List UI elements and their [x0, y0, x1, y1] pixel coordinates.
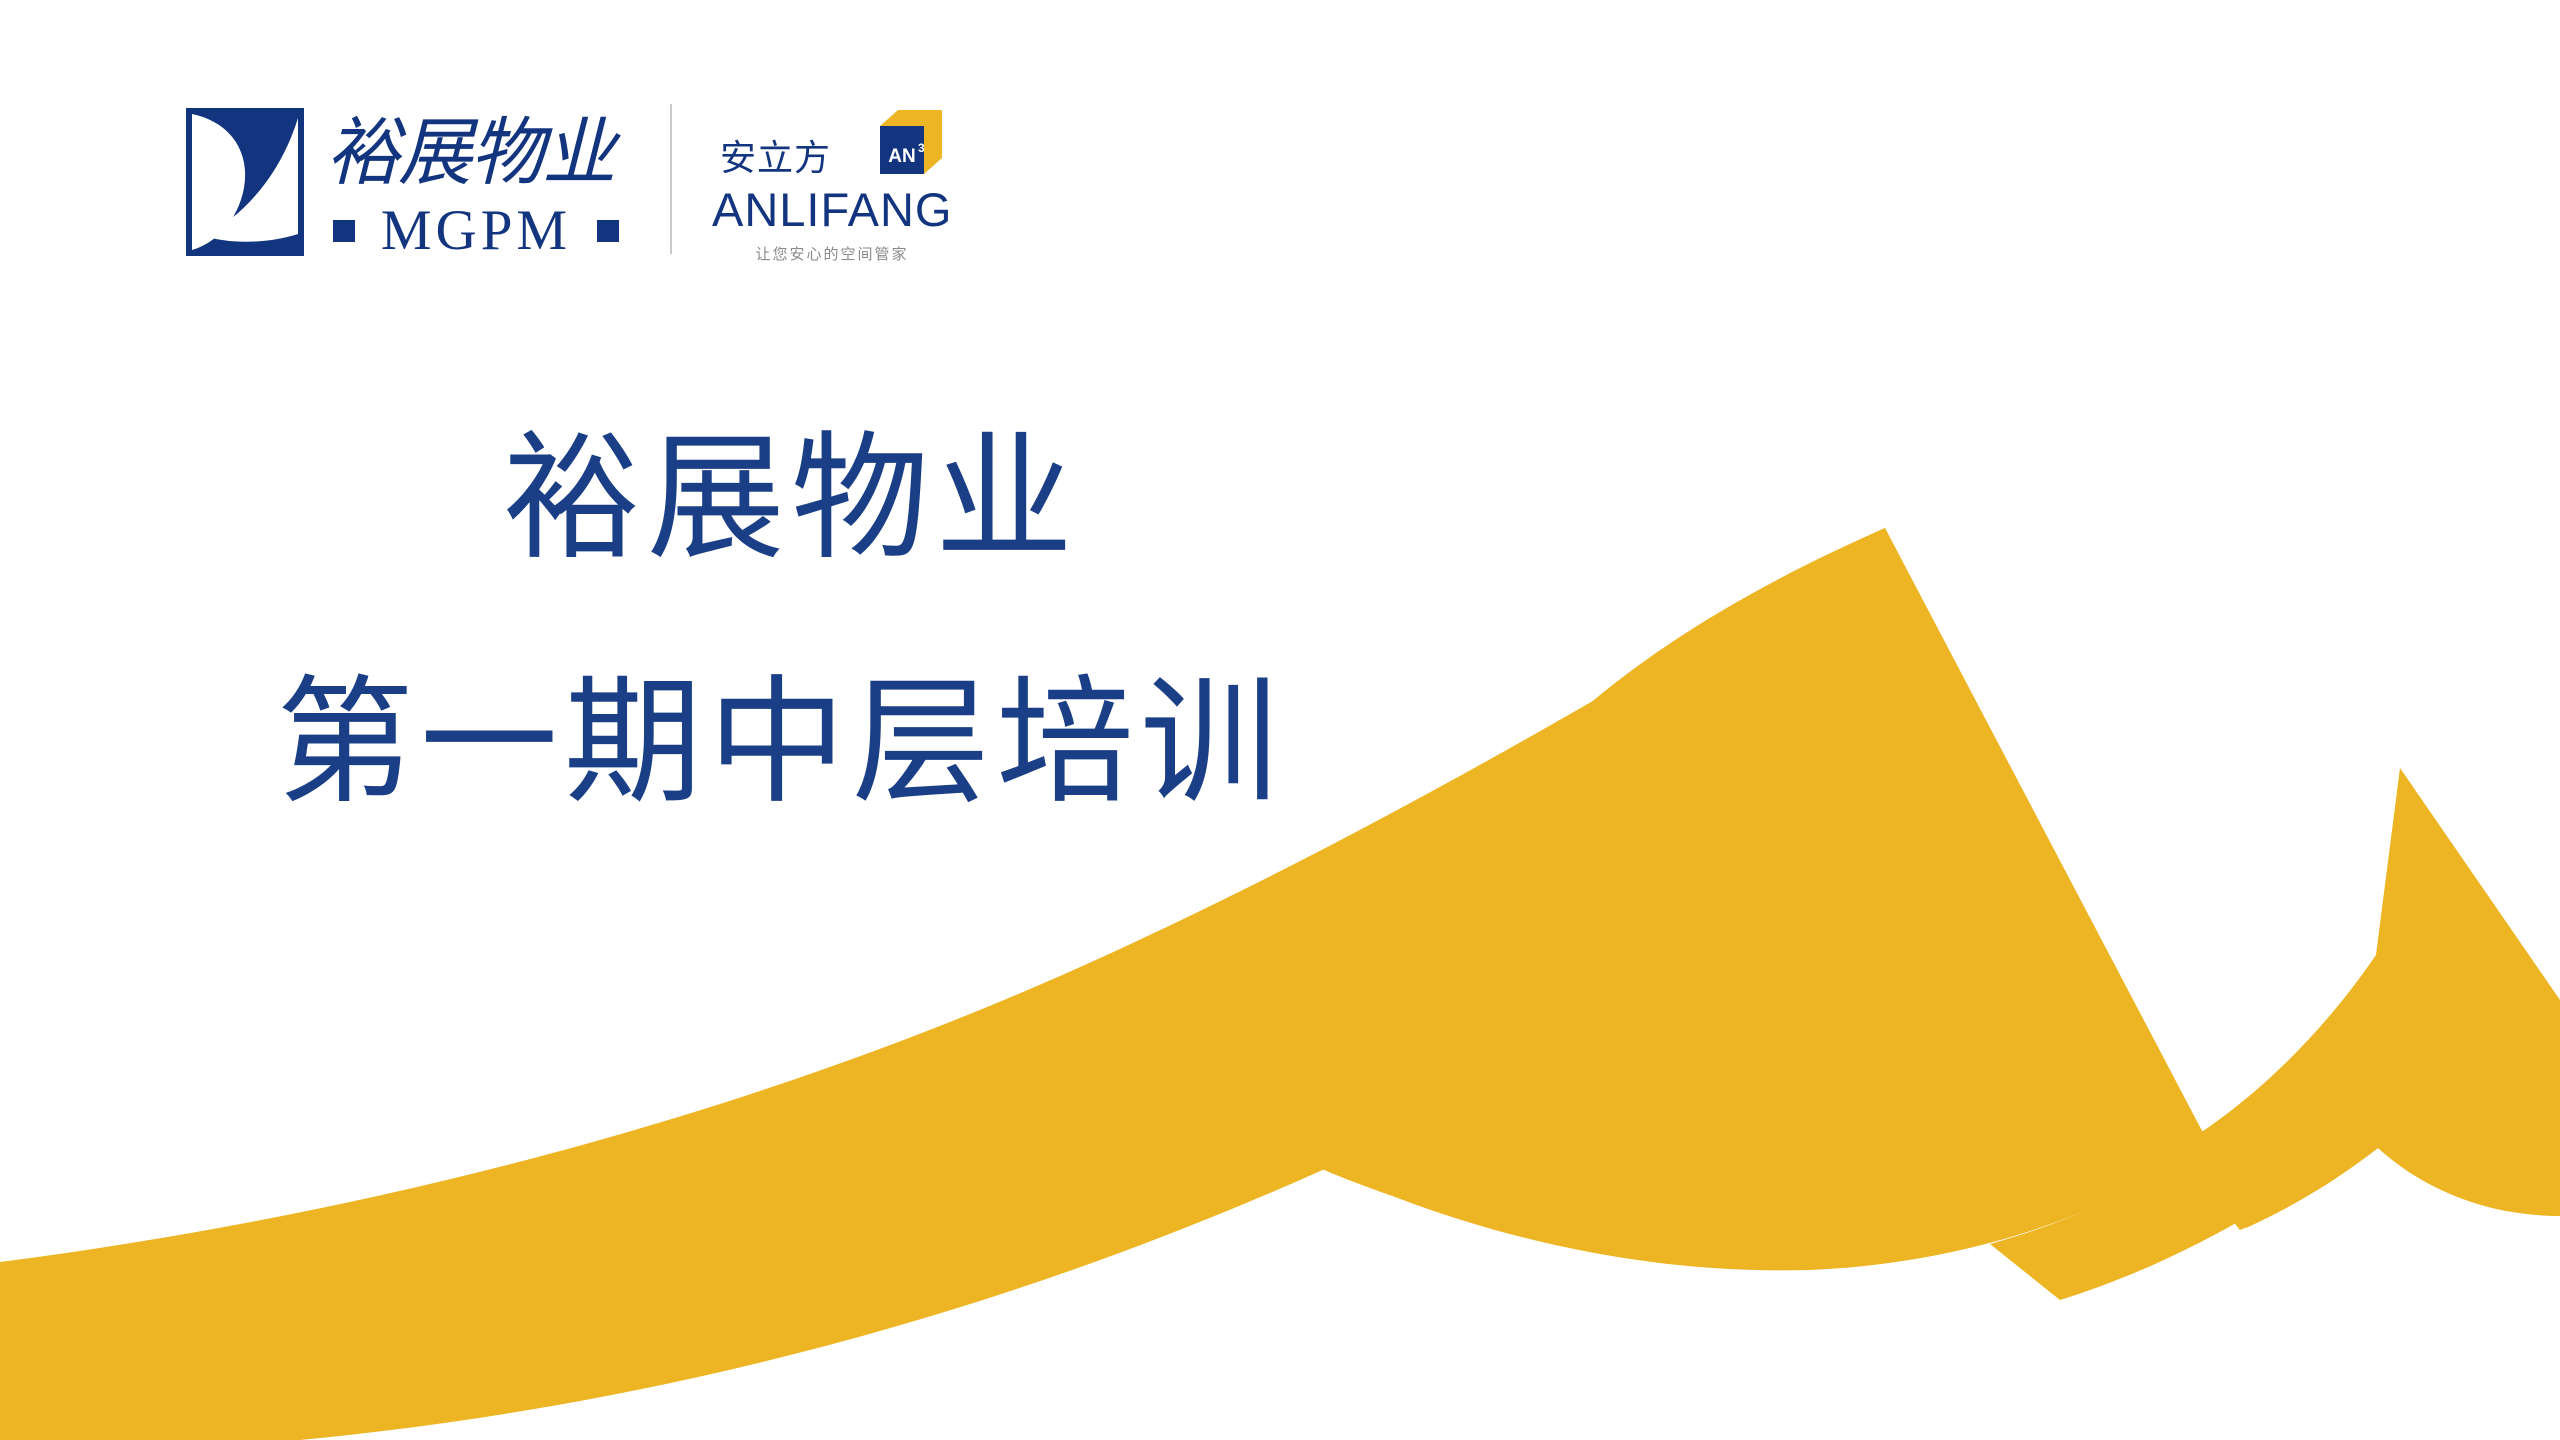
anlifang-logo: 安立方 AN 3 ANLIFANG 让您安心的空间管家 — [712, 98, 952, 264]
mgpm-logo: 裕展物业 MGPM — [186, 98, 626, 259]
anlifang-chinese-name: 安立方 — [720, 136, 858, 178]
square-bullet-icon-left — [333, 220, 355, 242]
anlifang-tagline: 让您安心的空间管家 — [732, 242, 932, 264]
peak-right — [2176, 770, 2560, 1230]
page-title-line-1: 裕展物业 — [22, 430, 1560, 568]
svg-text:3: 3 — [918, 141, 925, 155]
sail-crescent-icon — [186, 108, 304, 256]
svg-text:让您安心的空间管家: 让您安心的空间管家 — [756, 245, 909, 263]
anlifang-top-row: 安立方 AN 3 — [720, 108, 944, 182]
anlifang-cube-icon: AN 3 — [868, 108, 944, 182]
mgpm-chinese-name-calligraphy: 裕展物业 — [326, 102, 626, 200]
svg-text:AN: AN — [888, 146, 915, 167]
second-peak-shape — [2210, 768, 2560, 1203]
anlifang-wordmark: ANLIFANG — [712, 186, 952, 233]
mgpm-text-column: 裕展物业 MGPM — [326, 98, 626, 259]
mgpm-wordmark: MGPM — [381, 202, 571, 259]
page-title-line-2: 第一期中层培训 — [0, 674, 1560, 812]
svg-text:安立方: 安立方 — [720, 138, 831, 178]
logo-divider — [670, 104, 672, 254]
mgpm-english-row: MGPM — [326, 202, 626, 259]
valley-connector-shape — [1990, 1140, 2310, 1300]
right-peak-shape — [2180, 770, 2560, 1228]
square-bullet-icon-right — [597, 220, 619, 242]
title-block: 裕展物业 第一期中层培训 — [0, 430, 1560, 812]
svg-text:裕展物业: 裕展物业 — [326, 110, 621, 196]
logo-lockup: 裕展物业 MGPM 安立方 — [186, 98, 952, 264]
title-slide: 裕展物业 MGPM 安立方 — [0, 0, 2560, 1440]
